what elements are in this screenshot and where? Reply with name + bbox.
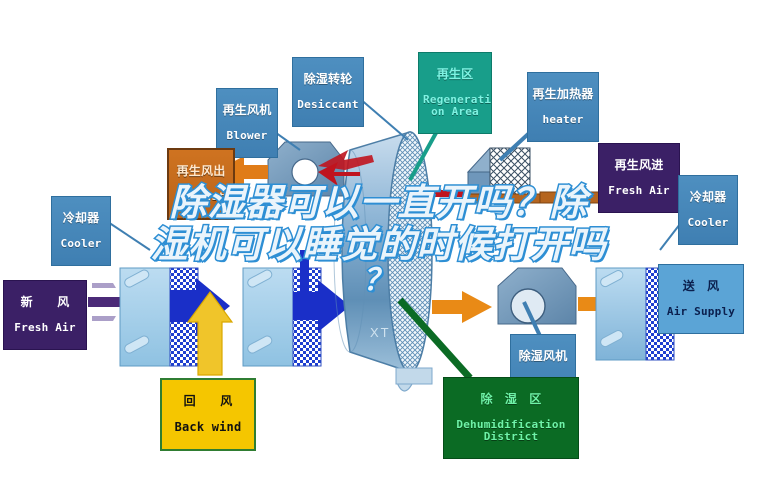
label-regen-fresh-air: 再生风进 Fresh Air (598, 143, 680, 213)
label-cooler-left-cn: 冷却器 (56, 212, 106, 225)
label-desiccant-cn: 除湿转轮 (297, 73, 359, 86)
label-desiccant: 除湿转轮 Desiccant (292, 57, 364, 127)
fresh-air-arrow (88, 283, 146, 321)
label-regen-fresh-air-cn: 再生风进 (603, 159, 675, 172)
label-regen-area-cn: 再生区 (423, 68, 487, 81)
headline-line-3: ？ (0, 266, 757, 296)
headline-line-2: 湿机可以睡觉的时候打开吗 (0, 224, 757, 266)
label-back-wind: 回 风 Back wind (160, 378, 256, 451)
regeneration-heater (430, 148, 540, 203)
label-fresh-air-en: Fresh Air (8, 322, 82, 334)
regeneration-blower (268, 142, 374, 196)
back-wind-arrow (188, 292, 232, 375)
label-fresh-air-cn: 新 风 (8, 296, 82, 309)
label-air-supply: 送 风 Air Supply (658, 264, 744, 334)
diagram-canvas: XT 再生风机 Blower 除湿转轮 Desiccant 再生区 Regene… (0, 0, 757, 488)
label-exhaust-en: Exhaust (173, 191, 229, 203)
label-dehu-blower-cn: 除湿风机 (515, 350, 571, 363)
label-regen-heater: 再生加热器 heater (527, 72, 599, 142)
label-regen-heater-en: heater (532, 114, 594, 126)
machine-illustration (0, 0, 757, 488)
label-dehu-district-cn: 除 湿 区 (448, 393, 574, 406)
dehumidification-blower (432, 268, 634, 324)
label-regen-fresh-air-en: Fresh Air (603, 185, 675, 197)
label-cooler-right-cn: 冷却器 (683, 191, 733, 204)
label-exhaust-cn: 再生风出 (173, 165, 229, 178)
label-desiccant-en: Desiccant (297, 99, 359, 111)
label-regen-blower-en: Blower (221, 130, 273, 142)
label-cooler-right-en: Cooler (683, 217, 733, 229)
cooler-coil-2 (243, 250, 350, 366)
label-cooler-left-en: Cooler (56, 238, 106, 250)
leader-lines (108, 92, 700, 378)
label-cooler-right: 冷却器 Cooler (678, 175, 738, 245)
watermark: XT (370, 325, 391, 340)
label-back-wind-cn: 回 风 (166, 395, 250, 408)
label-fresh-air: 新 风 Fresh Air (3, 280, 87, 350)
label-regen-area-en: Regenerati on Area (423, 94, 487, 118)
label-regen-blower-cn: 再生风机 (221, 104, 273, 117)
label-dehu-district-en: Dehumidification District (448, 419, 574, 443)
label-air-supply-cn: 送 风 (663, 280, 739, 293)
label-exhaust: 再生风出 Exhaust (167, 148, 235, 220)
label-back-wind-en: Back wind (166, 421, 250, 434)
label-cooler-left: 冷却器 Cooler (51, 196, 111, 266)
label-dehu-district: 除 湿 区 Dehumidification District (443, 377, 579, 459)
label-regen-heater-cn: 再生加热器 (532, 88, 594, 101)
label-air-supply-en: Air Supply (663, 306, 739, 318)
label-regen-area: 再生区 Regenerati on Area (418, 52, 492, 134)
desiccant-rotor (334, 132, 432, 391)
cooler-coil-1 (120, 268, 230, 366)
